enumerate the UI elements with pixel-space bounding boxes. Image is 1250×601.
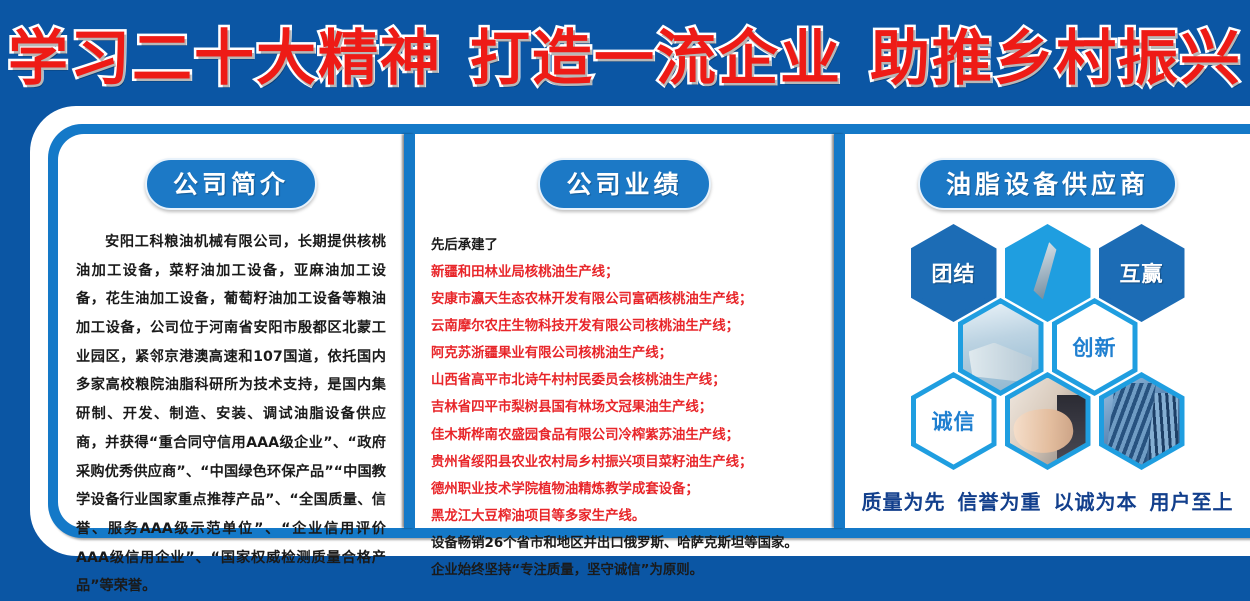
hex-label: 互赢 — [1120, 258, 1164, 288]
header-banner: 学习二十大精神打造一流企业助推乡村振兴 — [0, 0, 1250, 106]
badge-company-achievements: 公司业绩 — [538, 158, 710, 210]
panel-company-profile: 公司简介 安阳工科粮油机械有限公司，长期提供核桃油加工设备，菜籽油加工设备，亚麻… — [58, 134, 404, 528]
badge-oil-equipment-supplier: 油脂设备供应商 — [918, 158, 1177, 210]
hex-inner — [1104, 378, 1180, 465]
page-title-part-2: 打造一流企业 — [456, 10, 856, 97]
hex-label: 创新 — [1073, 332, 1117, 362]
slogan-part: 信誉为重 — [952, 490, 1048, 514]
hexagon-cluster: 团结 互赢 创新 诚信 — [883, 224, 1213, 476]
slogan-part: 以诚为本 — [1048, 490, 1144, 514]
slogan-part: 用户至上 — [1144, 490, 1240, 514]
hex-inner — [1010, 230, 1086, 317]
hex-tuanjie[interactable]: 团结 — [911, 224, 997, 322]
aircraft-carrier-photo — [1010, 230, 1086, 317]
hex-label: 团结 — [932, 258, 976, 288]
hex-robotic-arm-icon[interactable] — [958, 298, 1044, 396]
hex-huying[interactable]: 互赢 — [1099, 224, 1185, 322]
column-divider-2 — [834, 134, 845, 528]
achievements-intro: 先后承建了 — [431, 232, 818, 259]
project-item: 安康市瀛天生态农林开发有限公司富硒核桃油生产线； — [431, 286, 818, 313]
badge-company-profile: 公司简介 — [145, 158, 317, 210]
project-item: 新疆和田林业局核桃油生产线； — [431, 259, 818, 286]
robotic-arm-photo — [963, 304, 1039, 391]
achievements-body: 先后承建了 新疆和田林业局核桃油生产线； 安康市瀛天生态农林开发有限公司富硒核桃… — [431, 232, 818, 584]
company-profile-text: 安阳工科粮油机械有限公司，长期提供核桃油加工设备，菜籽油加工设备，亚麻油加工设备… — [76, 228, 386, 601]
skyscraper-photo — [1104, 378, 1180, 465]
page-title-part-1: 学习二十大精神 — [0, 10, 456, 97]
project-item: 德州职业技术学院植物油精炼教学成套设备； — [431, 476, 818, 503]
column-divider-1 — [404, 134, 415, 528]
company-profile-paragraph: 安阳工科粮油机械有限公司，长期提供核桃油加工设备，菜籽油加工设备，亚麻油加工设备… — [76, 234, 386, 594]
handshake-photo — [1010, 378, 1086, 465]
project-item: 贵州省绥阳县农业农村局乡村振兴项目菜籽油生产线； — [431, 449, 818, 476]
hex-label: 诚信 — [932, 406, 976, 436]
achievements-footer-line: 企业始终坚持“专注质量，坚守诚信”为原则。 — [431, 557, 818, 584]
panel-company-achievements: 公司业绩 先后承建了 新疆和田林业局核桃油生产线； 安康市瀛天生态农林开发有限公… — [415, 134, 834, 528]
page-title: 学习二十大精神打造一流企业助推乡村振兴 — [0, 10, 1250, 97]
page-title-part-3: 助推乡村振兴 — [856, 10, 1250, 97]
hex-chuangxin[interactable]: 创新 — [1052, 298, 1138, 396]
slogan-part: 质量为先 — [856, 490, 952, 514]
supplier-slogan: 质量为先信誉为重以诚为本用户至上 — [845, 486, 1250, 515]
project-item: 佳木斯桦南农盛园食品有限公司冷榨紫苏油生产线； — [431, 422, 818, 449]
project-item: 吉林省四平市梨树县国有林场文冠果油生产线； — [431, 394, 818, 421]
achievements-footer-line: 设备畅销26个省市和地区并出口俄罗斯、哈萨克斯坦等国家。 — [431, 530, 818, 557]
project-item: 阿克苏浙疆果业有限公司核桃油生产线； — [431, 340, 818, 367]
hex-chengxin[interactable]: 诚信 — [911, 372, 997, 470]
hex-handshake-icon[interactable] — [1005, 372, 1091, 470]
project-item: 黑龙江大豆榨油项目等多家生产线。 — [431, 503, 818, 530]
hex-aircraft-carrier-icon[interactable] — [1005, 224, 1091, 322]
hex-skyscraper-icon[interactable] — [1099, 372, 1185, 470]
project-item: 山西省高平市北诗午村村民委员会核桃油生产线； — [431, 367, 818, 394]
hex-inner — [963, 304, 1039, 391]
hex-inner — [1010, 378, 1086, 465]
project-item: 云南摩尔农庄生物科技开发有限公司核桃油生产线； — [431, 313, 818, 340]
panel-supplier: 油脂设备供应商 团结 互赢 创新 诚信 — [845, 134, 1250, 528]
